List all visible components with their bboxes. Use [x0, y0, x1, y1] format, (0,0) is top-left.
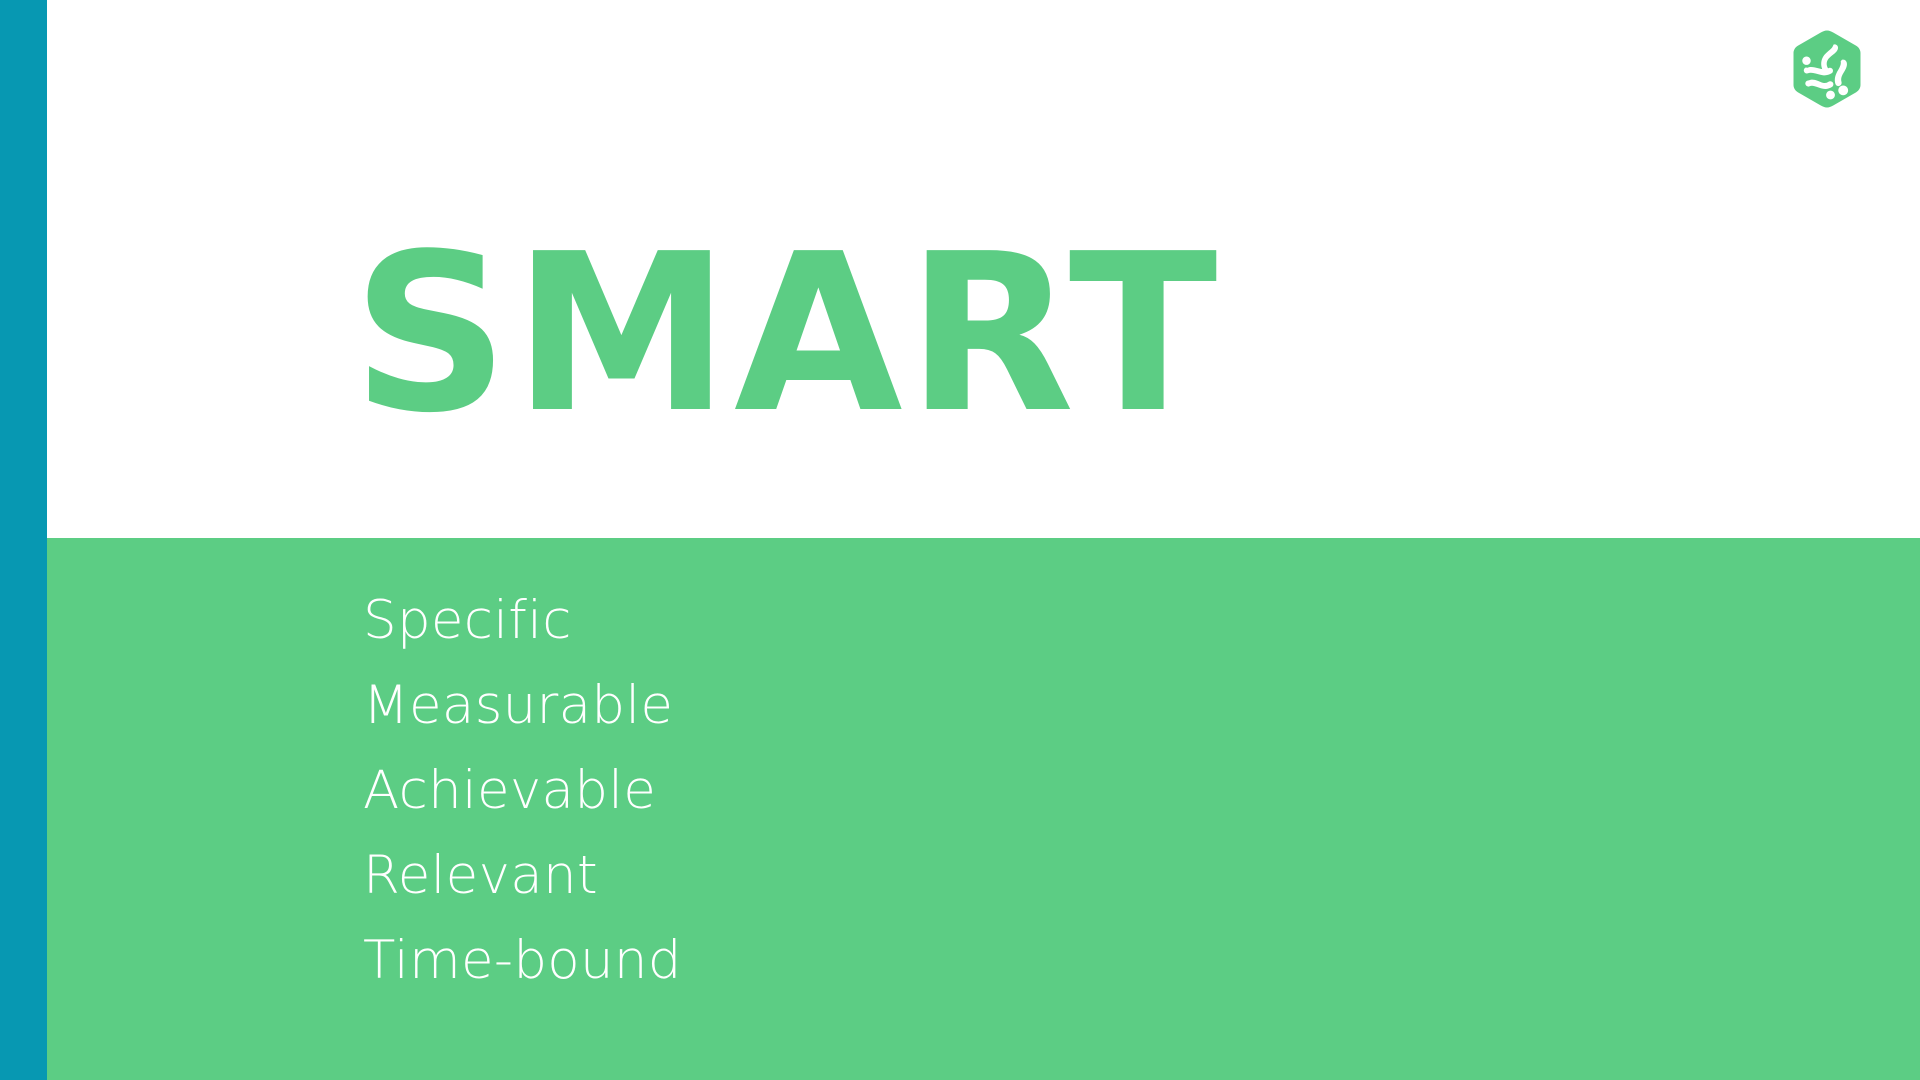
page-title: SMART	[352, 226, 1221, 444]
list-item: Specific	[363, 578, 682, 663]
criteria-region	[47, 538, 1920, 1080]
list-item: Relevant	[363, 833, 682, 918]
hexagon-coral-logo-icon	[1788, 28, 1866, 110]
left-accent-bar	[0, 0, 47, 1080]
slide-canvas: SMART Specific Measurable Achievable Rel…	[0, 0, 1920, 1080]
list-item: Measurable	[363, 663, 682, 748]
smart-criteria-list: Specific Measurable Achievable Relevant …	[363, 578, 682, 1003]
list-item: Achievable	[363, 748, 682, 833]
list-item: Time-bound	[363, 918, 682, 1003]
